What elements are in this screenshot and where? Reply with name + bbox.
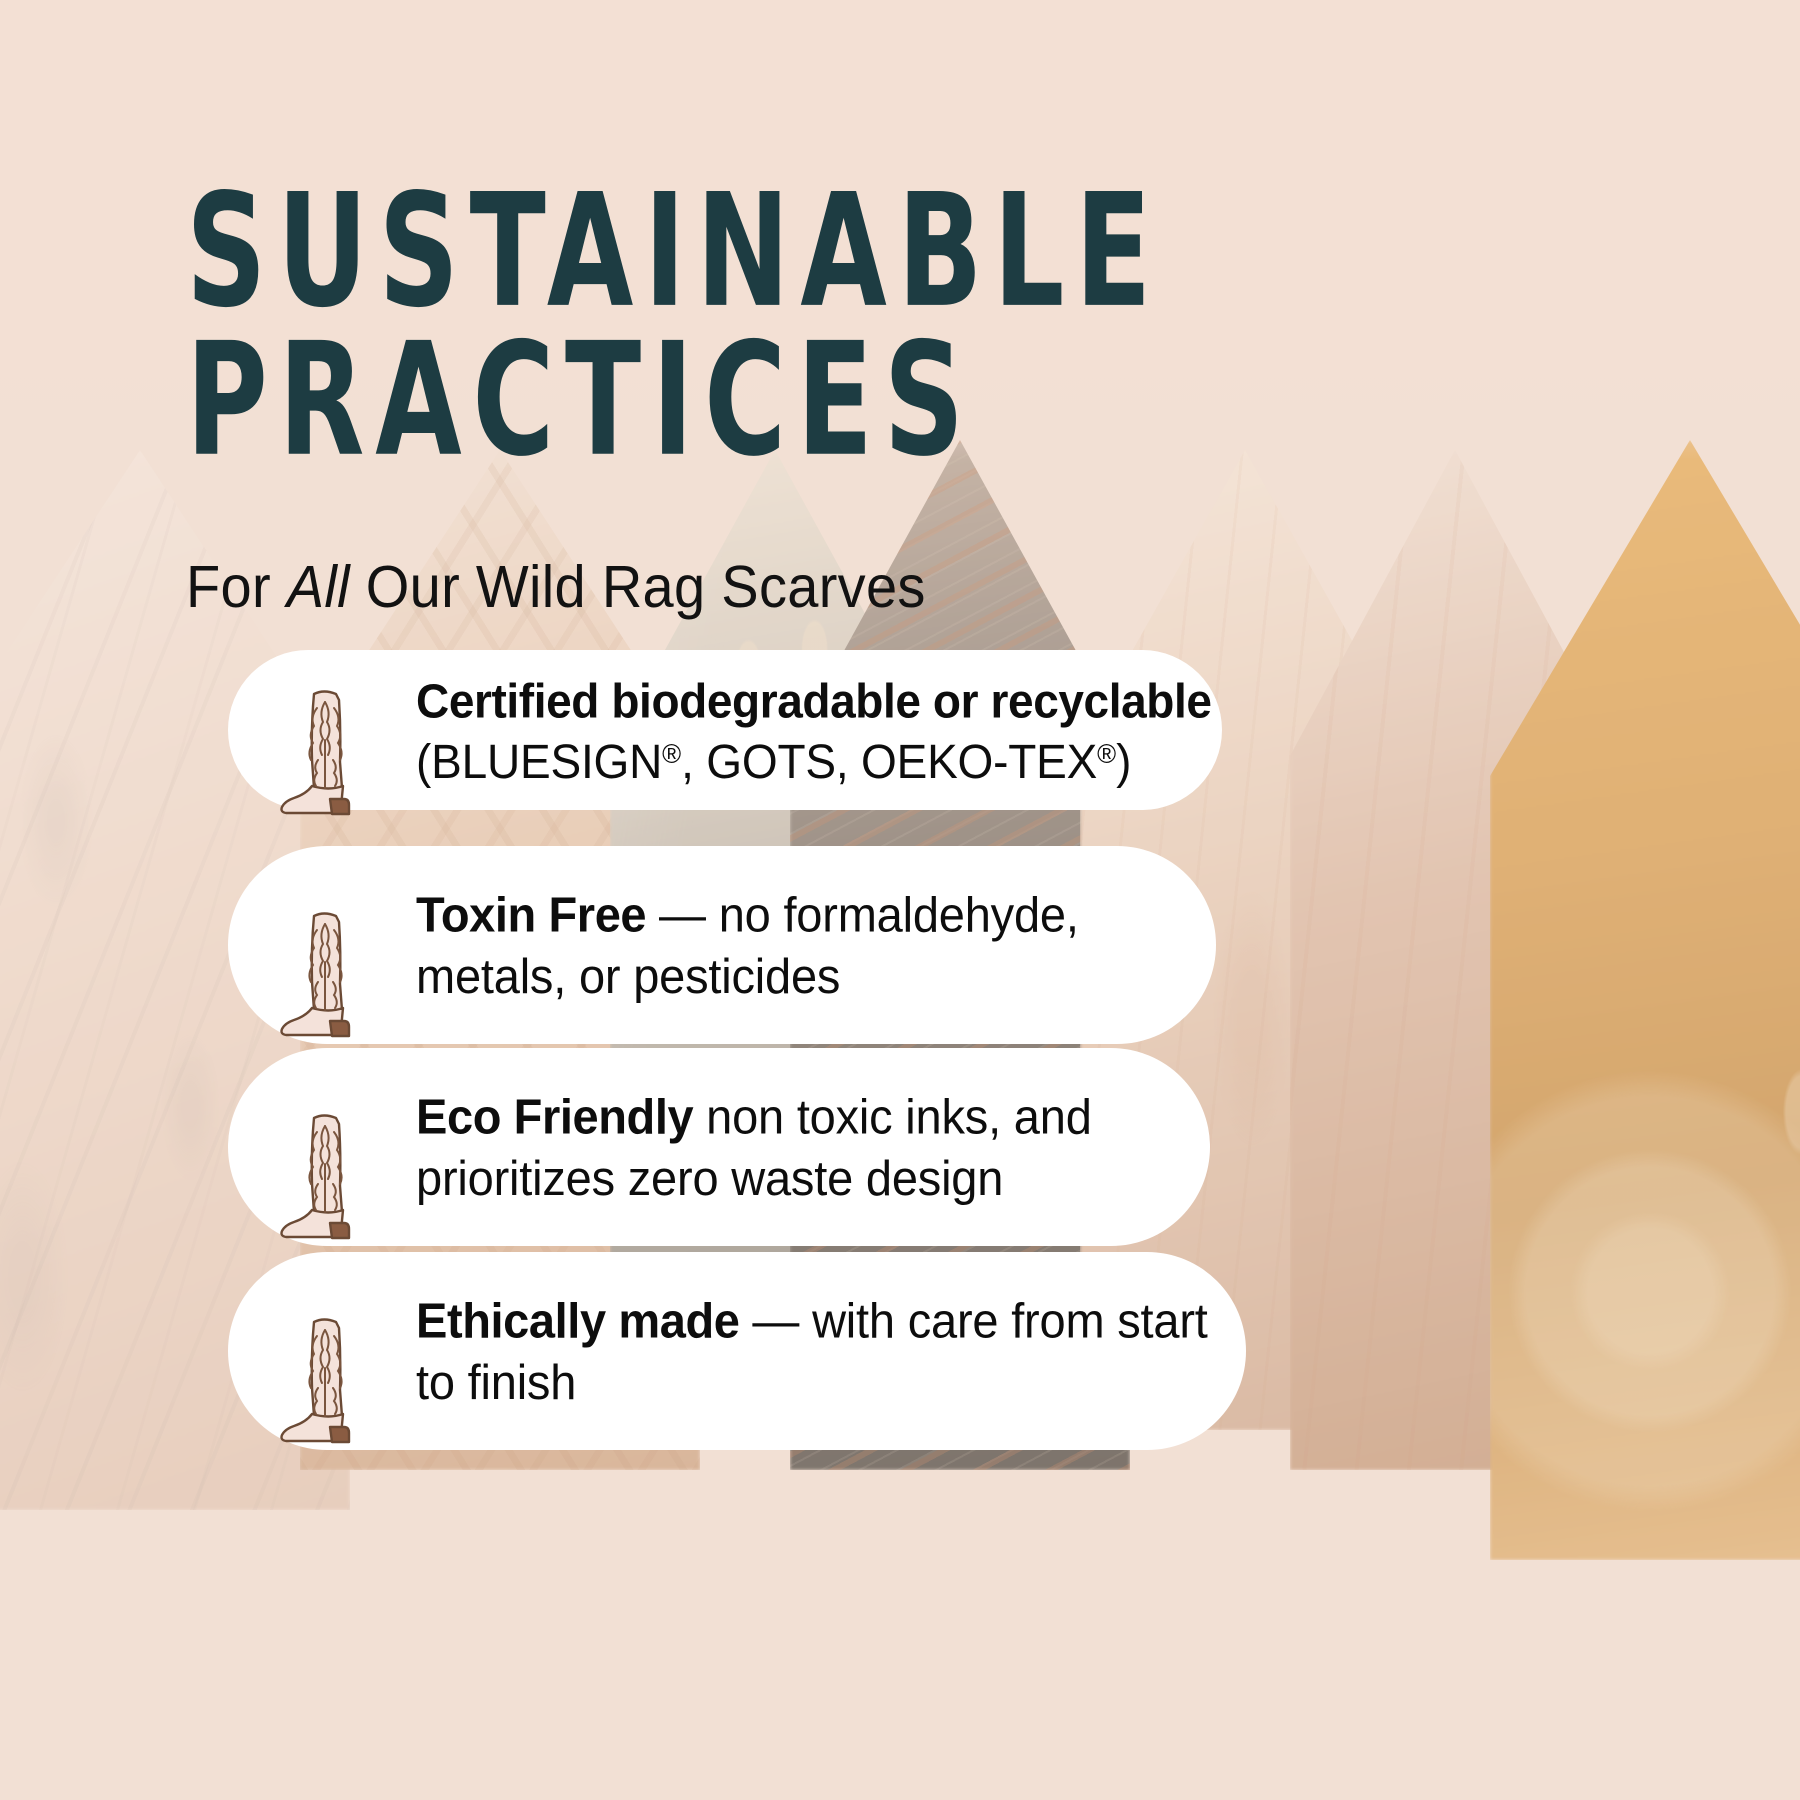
- feature-card-list: Certified biodegradable or recyclable (B…: [0, 0, 1800, 1800]
- cowboy-boot-icon: [268, 900, 380, 1040]
- feature-card[interactable]: Eco Friendly non toxic inks, and priorit…: [228, 1048, 1210, 1246]
- feature-card-bold: Ethically made: [416, 1293, 740, 1348]
- feature-card-bold: Toxin Free: [416, 887, 646, 942]
- poster-canvas: SUSTAINABLE PRACTICES For All Our Wild R…: [0, 0, 1800, 1800]
- feature-card-text: Toxin Free — no formaldehyde, metals, or…: [416, 884, 1216, 1007]
- cowboy-boot-icon: [268, 678, 380, 818]
- feature-card-bold: Eco Friendly: [416, 1089, 693, 1144]
- feature-card[interactable]: Ethically made — with care from start to…: [228, 1252, 1246, 1450]
- feature-card[interactable]: Toxin Free — no formaldehyde, metals, or…: [228, 846, 1216, 1044]
- cowboy-boot-icon: [268, 1306, 380, 1446]
- feature-card-bold: Certified biodegradable or recyclable: [416, 674, 1212, 728]
- feature-card-text: Eco Friendly non toxic inks, and priorit…: [416, 1086, 1210, 1209]
- feature-card-text: Ethically made — with care from start to…: [416, 1290, 1246, 1413]
- feature-card-text: Certified biodegradable or recyclable (B…: [416, 672, 1212, 793]
- feature-card[interactable]: Certified biodegradable or recyclable (B…: [228, 650, 1222, 810]
- cowboy-boot-icon: [268, 1102, 380, 1242]
- feature-card-detail: (BLUESIGN®, GOTS, OEKO-TEX®): [416, 734, 1131, 788]
